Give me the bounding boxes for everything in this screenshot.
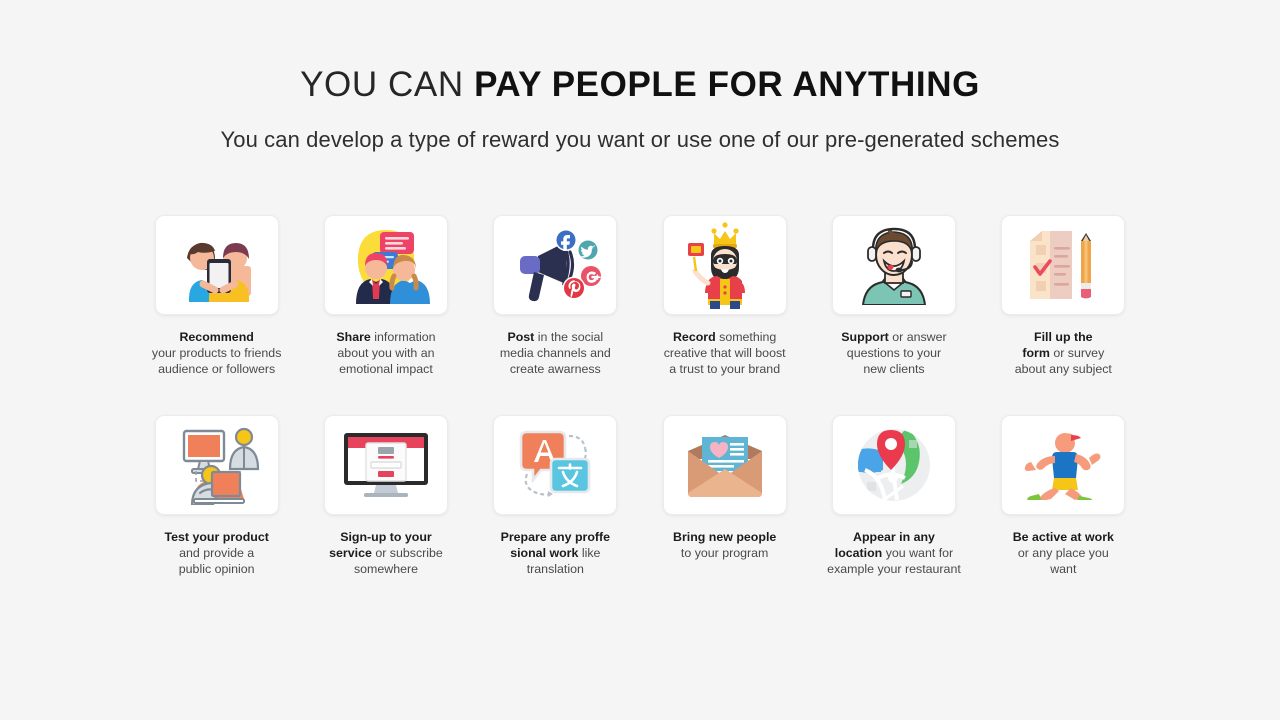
scheme-caption: Fill up the form or survey about any sub…	[979, 329, 1148, 377]
scheme-caption: Bring new people to your program	[640, 529, 809, 561]
megaphone-social-icon	[508, 226, 602, 304]
page-title: YOU CAN PAY PEOPLE FOR ANYTHING	[0, 66, 1280, 105]
scheme-card-record[interactable]: Record something creative that will boos…	[640, 215, 809, 377]
map-location-pin-icon	[855, 426, 933, 504]
caption-line-2: form or survey	[979, 345, 1148, 361]
scheme-caption: Be active at work or any place you want	[979, 529, 1148, 577]
scheme-icon-card[interactable]	[663, 415, 787, 515]
caption-line-1: Recommend	[132, 329, 301, 345]
caption-line-2: sional work like	[471, 545, 640, 561]
checklist-pencil-icon	[1020, 229, 1106, 301]
caption-line-2: questions to your	[809, 345, 978, 361]
scheme-icon-card[interactable]	[832, 215, 956, 315]
king-selfie-icon	[686, 221, 764, 309]
caption-line-1: Sign-up to your	[301, 529, 470, 545]
caption-line-1: Record something	[640, 329, 809, 345]
scheme-card-translation[interactable]: Prepare any proffe sional work like tran…	[471, 415, 640, 577]
signup-monitor-form-icon	[340, 431, 432, 499]
caption-line-3: a trust to your brand	[640, 361, 809, 377]
scheme-card-post[interactable]: Post in the social media channels and cr…	[471, 215, 640, 377]
scheme-caption: Test your product and provide a public o…	[132, 529, 301, 577]
caption-line-3: public opinion	[132, 561, 301, 577]
page-subtitle: You can develop a type of reward you wan…	[0, 127, 1280, 153]
caption-line-3: emotional impact	[301, 361, 470, 377]
caption-line-3: translation	[471, 561, 640, 577]
scheme-icon-card[interactable]	[1001, 215, 1125, 315]
caption-line-2: about you with an	[301, 345, 470, 361]
scheme-caption: Recommend your products to friends audie…	[132, 329, 301, 377]
caption-line-2: to your program	[640, 545, 809, 561]
page-title-bold: PAY PEOPLE FOR ANYTHING	[474, 65, 980, 104]
caption-line-3: audience or followers	[132, 361, 301, 377]
slide-root: YOU CAN PAY PEOPLE FOR ANYTHING You can …	[0, 0, 1280, 720]
caption-line-2: service or subscribe	[301, 545, 470, 561]
caption-line-2: or any place you	[979, 545, 1148, 561]
scheme-icon-card[interactable]	[324, 415, 448, 515]
caption-line-1: Bring new people	[640, 529, 809, 545]
caption-line-2: your products to friends	[132, 345, 301, 361]
caption-line-2: media channels and	[471, 345, 640, 361]
reward-schemes-grid: Recommend your products to friends audie…	[132, 215, 1148, 577]
two-people-tablet-icon	[173, 228, 261, 302]
caption-line-1: Support or answer	[809, 329, 978, 345]
scheme-caption: Prepare any proffe sional work like tran…	[471, 529, 640, 577]
scheme-caption: Record something creative that will boos…	[640, 329, 809, 377]
scheme-card-referral[interactable]: Bring new people to your program	[640, 415, 809, 577]
caption-line-3: new clients	[809, 361, 978, 377]
scheme-caption: Support or answer questions to your new …	[809, 329, 978, 377]
caption-line-3: about any subject	[979, 361, 1148, 377]
scheme-icon-card[interactable]	[155, 215, 279, 315]
scheme-card-test-product[interactable]: Test your product and provide a public o…	[132, 415, 301, 577]
scheme-card-location[interactable]: Appear in any location you want for exam…	[809, 415, 978, 577]
caption-line-3: example your restaurant	[809, 561, 978, 577]
caption-line-1: Fill up the	[979, 329, 1148, 345]
caption-line-1: Appear in any	[809, 529, 978, 545]
scheme-card-share[interactable]: Share information about you with an emot…	[301, 215, 470, 377]
product-testing-monitors-icon	[170, 425, 264, 505]
header: YOU CAN PAY PEOPLE FOR ANYTHING You can …	[0, 66, 1280, 153]
scheme-caption: Post in the social media channels and cr…	[471, 329, 640, 377]
scheme-icon-card[interactable]	[493, 215, 617, 315]
scheme-icon-card[interactable]	[493, 415, 617, 515]
caption-line-3: somewhere	[301, 561, 470, 577]
envelope-heart-letter-icon	[680, 433, 770, 497]
caption-line-3: create awarness	[471, 361, 640, 377]
translation-bubbles-icon	[513, 426, 597, 504]
scheme-caption: Share information about you with an emot…	[301, 329, 470, 377]
scheme-card-signup[interactable]: Sign-up to your service or subscribe som…	[301, 415, 470, 577]
caption-line-1: Test your product	[132, 529, 301, 545]
scheme-card-active[interactable]: Be active at work or any place you want	[979, 415, 1148, 577]
caption-line-3: want	[979, 561, 1148, 577]
scheme-caption: Sign-up to your service or subscribe som…	[301, 529, 470, 577]
caption-line-2: location you want for	[809, 545, 978, 561]
two-people-speech-bubbles-icon	[342, 226, 430, 304]
scheme-icon-card[interactable]	[1001, 415, 1125, 515]
scheme-icon-card[interactable]	[155, 415, 279, 515]
caption-line-1: Post in the social	[471, 329, 640, 345]
scheme-caption: Appear in any location you want for exam…	[809, 529, 978, 577]
caption-line-2: creative that will boost	[640, 345, 809, 361]
support-agent-headset-icon	[853, 225, 935, 305]
scheme-icon-card[interactable]	[832, 415, 956, 515]
caption-line-1: Be active at work	[979, 529, 1148, 545]
scheme-icon-card[interactable]	[324, 215, 448, 315]
scheme-icon-card[interactable]	[663, 215, 787, 315]
caption-line-1: Prepare any proffe	[471, 529, 640, 545]
page-title-light: YOU CAN	[300, 65, 474, 104]
caption-line-1: Share information	[301, 329, 470, 345]
running-person-icon	[1019, 430, 1107, 500]
scheme-card-form[interactable]: Fill up the form or survey about any sub…	[979, 215, 1148, 377]
scheme-card-recommend[interactable]: Recommend your products to friends audie…	[132, 215, 301, 377]
caption-line-2: and provide a	[132, 545, 301, 561]
scheme-card-support[interactable]: Support or answer questions to your new …	[809, 215, 978, 377]
